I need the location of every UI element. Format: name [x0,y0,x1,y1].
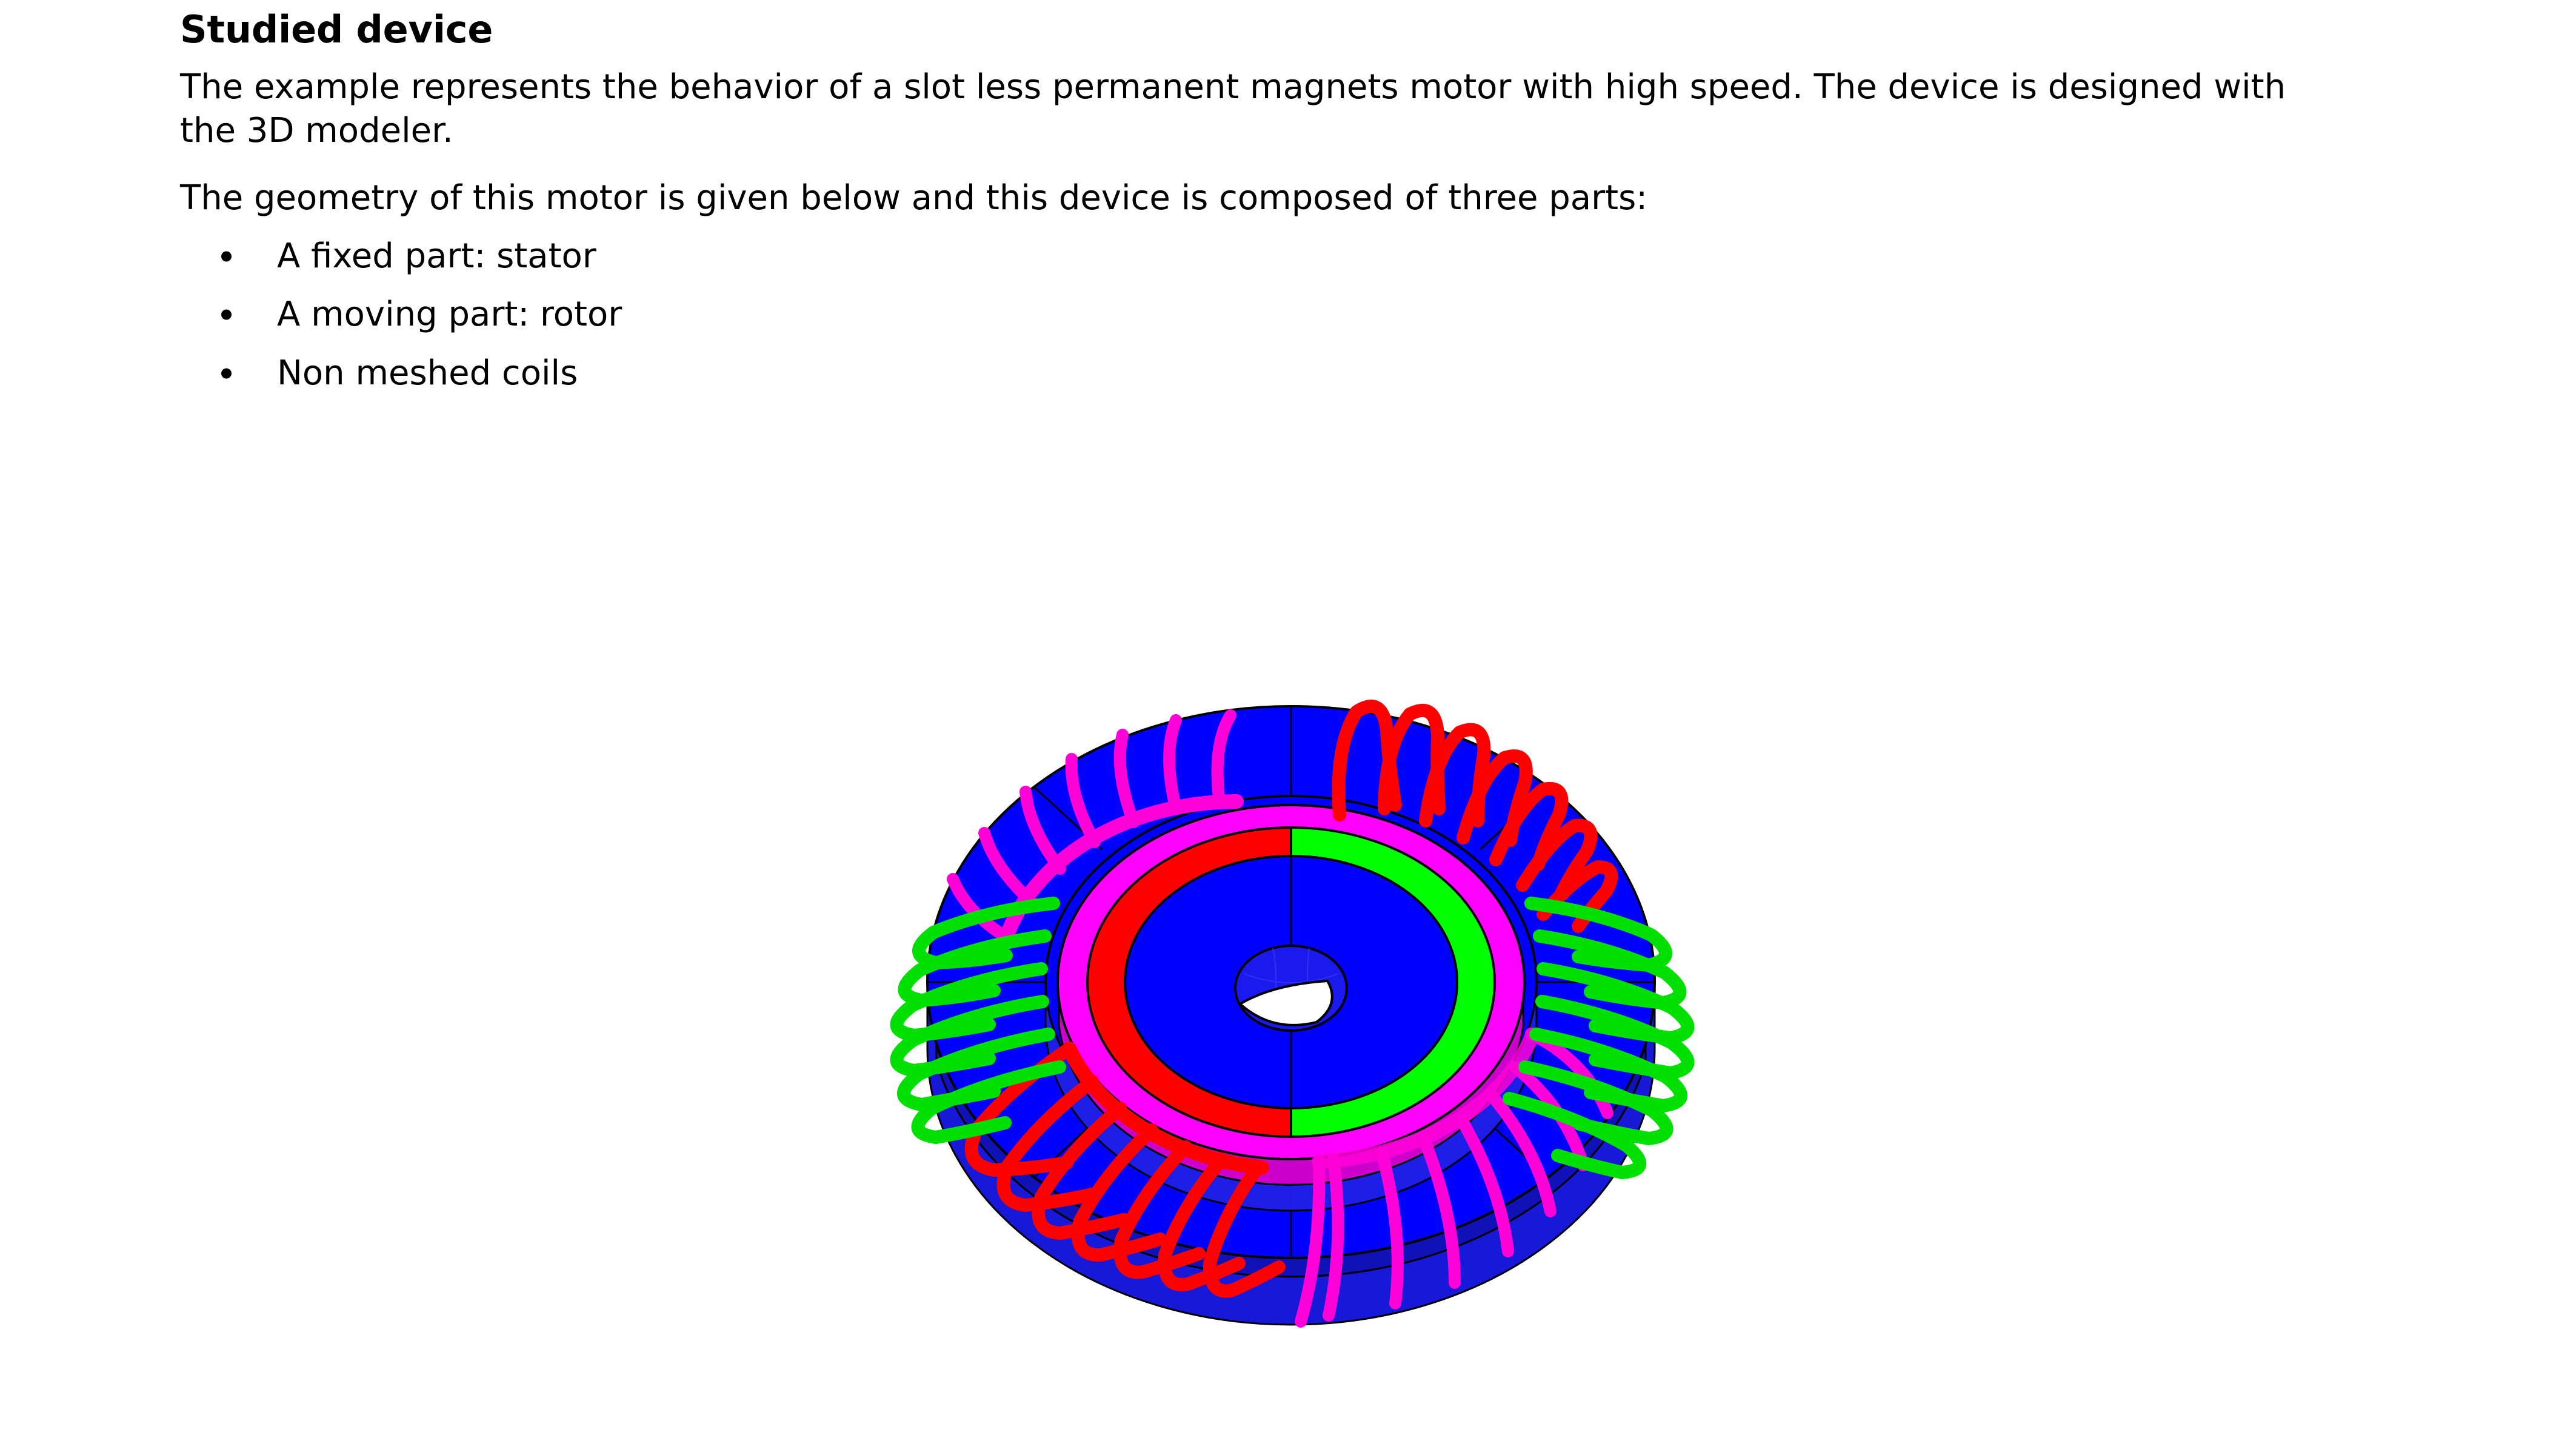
device-parts-list: A fixed part: stator A moving part: roto… [180,220,2423,394]
motor-3d-svg [812,564,1806,1455]
list-item: A moving part: rotor [180,294,2423,335]
page-title: Studied device [180,0,2423,48]
intro-paragraph: The example represents the behavior of a… [180,48,2320,152]
geometry-paragraph: The geometry of this motor is given belo… [180,152,2320,220]
rotor-core [1125,856,1457,1108]
bullet-icon [221,368,232,378]
list-item-label: A fixed part: stator [277,236,596,276]
list-item: Non meshed coils [180,353,2423,394]
motor-geometry-figure [812,564,1806,1455]
document-text-column: Studied device The example represents th… [180,0,2423,411]
list-item-label: Non meshed coils [277,353,578,393]
list-item-label: A moving part: rotor [277,295,622,334]
bullet-icon [221,310,232,320]
page-canvas: Studied device The example represents th… [0,0,2576,1450]
list-item: A fixed part: stator [180,236,2423,277]
bullet-icon [221,252,232,262]
